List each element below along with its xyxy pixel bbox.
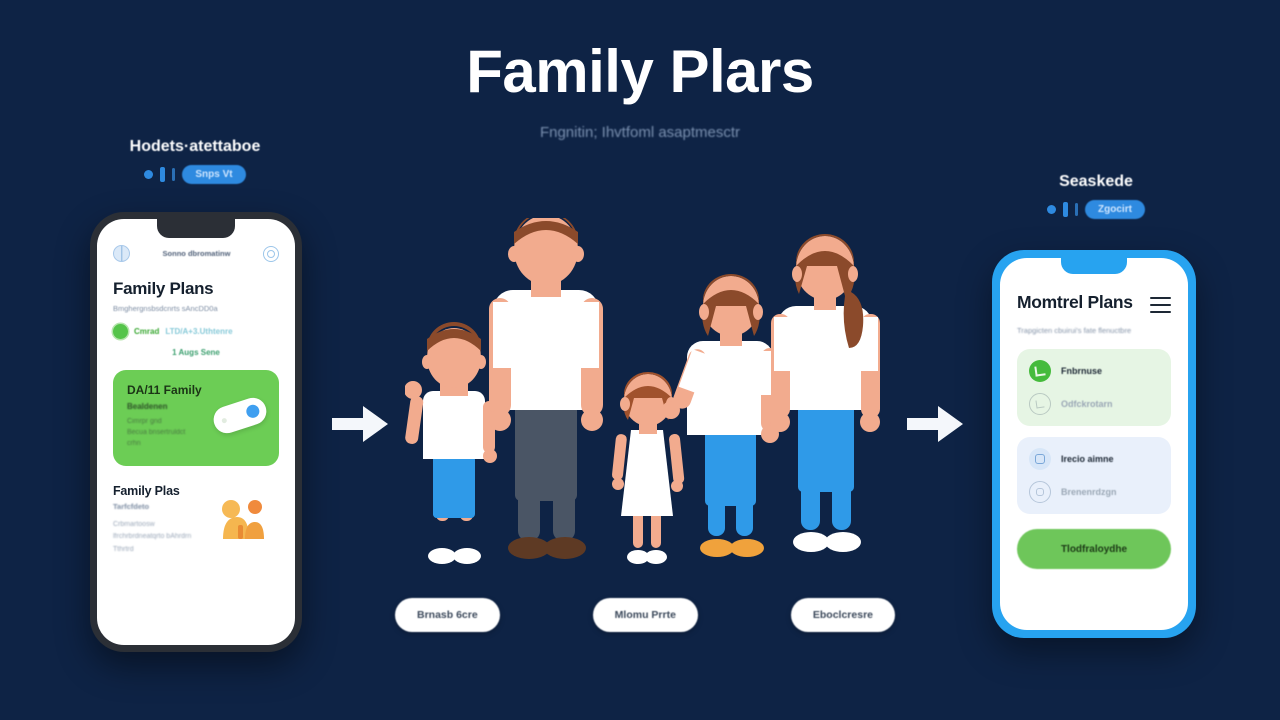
feature-card-blue[interactable]: Irecio aimne Brenenrdzgn xyxy=(1017,437,1171,514)
right-badge[interactable]: Zgocirt xyxy=(1085,200,1145,219)
plan-card-line: Becua bnsertruldct xyxy=(127,428,265,439)
green-status-badge xyxy=(113,324,128,339)
left-section-label: Hodets·atettaboe Snps Vt xyxy=(104,138,286,184)
feature-row[interactable]: Irecio aimne xyxy=(1029,448,1159,470)
right-phone-subheading: Trapgicten cbuirui's fate flenuctbre xyxy=(1017,326,1171,335)
feature-row[interactable]: Fnbrnuse xyxy=(1029,360,1159,382)
phone-notch xyxy=(157,219,235,238)
left-phone-screen: Sonno dbromatinw Family Plans Bmghergnsb… xyxy=(97,219,295,645)
right-section-label: Seaskede Zgocirt xyxy=(1020,173,1172,219)
feature-row-label: Irecio aimne xyxy=(1061,454,1114,464)
phone-notch xyxy=(1061,258,1127,274)
plan-card-title: DA/11 Family xyxy=(127,383,265,397)
figure-girl xyxy=(662,274,779,557)
globe-icon[interactable] xyxy=(113,245,130,262)
page-title: Family Plars xyxy=(0,40,1280,103)
feature-row-label: Odfckrotarn xyxy=(1061,399,1113,409)
feature-row-label: Brenenrdzgn xyxy=(1061,487,1117,497)
check-circle-outline-icon xyxy=(1029,393,1051,415)
orange-figure-art xyxy=(217,495,269,543)
left-phone-mockup: Sonno dbromatinw Family Plans Bmghergnsb… xyxy=(90,212,302,652)
right-phone-header: Momtrel Plans xyxy=(1017,292,1171,318)
status-row-label: Cmrad xyxy=(134,327,159,336)
statusbar-text: Sonno dbromatinw xyxy=(163,249,231,258)
shield-outline-icon xyxy=(1029,481,1051,503)
left-phone-status-row: Cmrad LTD/A+3.Uthtenre xyxy=(113,324,279,339)
arrow-right-icon-1 xyxy=(330,402,390,446)
left-phone-heading: Family Plans xyxy=(113,279,279,299)
left-phone-statusbar: Sonno dbromatinw xyxy=(113,245,279,262)
check-circle-solid-icon xyxy=(1029,360,1051,382)
right-phone-content: Momtrel Plans Trapgicten cbuirui's fate … xyxy=(1000,258,1188,569)
bar-indicator xyxy=(1063,202,1068,217)
dot-indicator xyxy=(144,170,153,179)
poster-canvas: Family Plars Fngnitin; Ihvtfoml asaptmes… xyxy=(0,0,1280,720)
circle-icon[interactable] xyxy=(263,246,279,262)
left-section-meta: Snps Vt xyxy=(104,165,286,184)
primary-cta-button[interactable]: Tlodfraloydhe xyxy=(1017,529,1171,569)
right-section-label-text: Seaskede xyxy=(1020,173,1172,191)
bottom-pill-group: Brnasb 6cre Mlomu Prrte Eboclcresre xyxy=(395,598,895,632)
bar-indicator-thin xyxy=(172,168,175,181)
device-blue-dot xyxy=(245,403,261,419)
hamburger-menu-icon[interactable] xyxy=(1150,292,1171,318)
bottom-pill-1[interactable]: Brnasb 6cre xyxy=(395,598,500,632)
plan-card-line: crhn xyxy=(127,439,265,450)
left-phone-content: Sonno dbromatinw Family Plans Bmghergnsb… xyxy=(97,219,295,589)
right-phone-heading: Momtrel Plans xyxy=(1017,292,1133,313)
bottom-pill-2[interactable]: Mlomu Prrte xyxy=(593,598,698,632)
family-of-five-illustration xyxy=(405,218,885,580)
status-row-value: LTD/A+3.Uthtenre xyxy=(165,327,232,336)
arrow-right-icon-2 xyxy=(905,402,965,446)
bar-indicator xyxy=(160,167,165,182)
figure-mother xyxy=(770,234,880,552)
bar-indicator-thin xyxy=(1075,203,1078,216)
left-phone-subheading: Bmghergnsbsdcnrts sAncDD0a xyxy=(113,304,279,313)
right-section-meta: Zgocirt xyxy=(1020,200,1172,219)
dot-indicator xyxy=(1047,205,1056,214)
shield-icon xyxy=(1029,448,1051,470)
plan-card-white[interactable]: Family Plas Tarfcfdeto Crbmartoosw lfrch… xyxy=(113,481,279,589)
left-badge[interactable]: Snps Vt xyxy=(182,165,245,184)
figure-boy xyxy=(405,322,497,564)
figure-father xyxy=(489,218,603,559)
left-section-label-text: Hodets·atettaboe xyxy=(104,138,286,156)
bottom-pill-3[interactable]: Eboclcresre xyxy=(791,598,895,632)
white-card-line: Tthrtrd xyxy=(113,544,279,556)
plan-card-green[interactable]: DA/11 Family Bealdenen Cimrpr gnd Becua … xyxy=(113,370,279,466)
feature-row[interactable]: Brenenrdzgn xyxy=(1029,481,1159,503)
feature-row-label: Fnbrnuse xyxy=(1061,366,1102,376)
feature-row[interactable]: Odfckrotarn xyxy=(1029,393,1159,415)
right-phone-screen: Momtrel Plans Trapgicten cbuirui's fate … xyxy=(1000,258,1188,630)
left-phone-center-note: 1 Augs Sene xyxy=(113,348,279,357)
right-phone-mockup: Momtrel Plans Trapgicten cbuirui's fate … xyxy=(992,250,1196,638)
feature-card-green[interactable]: Fnbrnuse Odfckrotarn xyxy=(1017,349,1171,426)
